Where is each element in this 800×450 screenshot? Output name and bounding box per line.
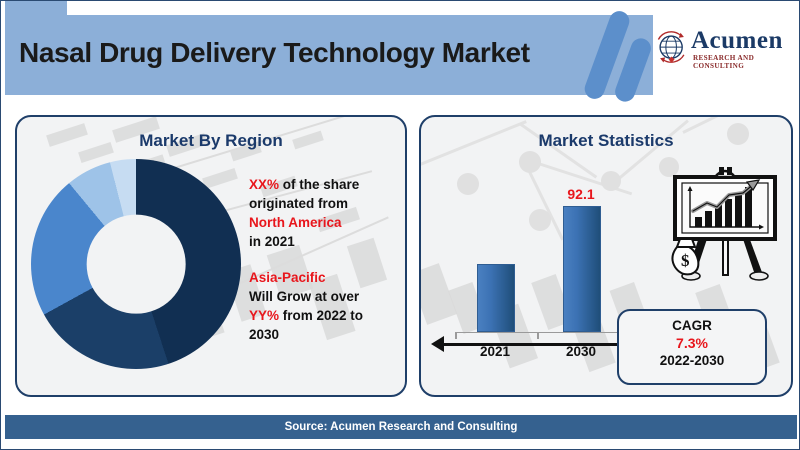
logo-wordmark: Acumen: [691, 28, 783, 53]
bar-2021: [477, 264, 515, 332]
footer-bar: Source: Acumen Research and Consulting: [5, 415, 797, 439]
logo-tagline: RESEARCH AND CONSULTING: [693, 54, 795, 70]
asia-growth-text: Will Grow at over: [249, 287, 399, 306]
market-by-region-panel: Market By Region XX% of the share origin…: [15, 115, 407, 397]
bar-label-2021: 2021: [467, 344, 523, 359]
footer-source-text: Source: Acumen Research and Consulting: [5, 415, 797, 439]
cagr-callout-box: CAGR 7.3% 2022-2030: [617, 309, 767, 385]
north-america-share-value: XX%: [249, 177, 279, 192]
cagr-period: 2022-2030: [619, 353, 765, 368]
cagr-arrow-line: [441, 343, 619, 346]
share-text-2: originated from: [249, 194, 399, 213]
share-year-label: in 2021: [249, 232, 399, 251]
bar-2030: [563, 206, 601, 332]
bar-label-2030: 2030: [553, 344, 609, 359]
svg-text:$: $: [681, 251, 690, 270]
share-text-1: of the share: [279, 177, 359, 192]
brand-logo: Acumen RESEARCH AND CONSULTING: [655, 27, 795, 73]
region-donut-chart: [31, 159, 241, 369]
asia-period-text: from 2022 to: [279, 308, 363, 323]
market-statistics-panel: Market Statistics 92.1 2021 2030: [419, 115, 793, 397]
header-notch: [5, 1, 67, 16]
chart-x-axis: [455, 332, 625, 334]
infographic-root: Nasal Drug Delivery Technology Market Ac…: [0, 0, 800, 450]
north-america-label: North America: [249, 213, 399, 232]
presentation-easel-icon: $: [669, 163, 781, 283]
market-statistics-bar-chart: 92.1 2021 2030: [449, 169, 629, 369]
bar-value-2030: 92.1: [551, 186, 611, 202]
right-panel-title: Market Statistics: [421, 131, 791, 151]
cagr-value: 7.3%: [619, 335, 765, 351]
page-title: Nasal Drug Delivery Technology Market: [19, 37, 619, 69]
region-stats-text: XX% of the share originated from North A…: [249, 175, 399, 344]
cagr-arrow-head-icon: [431, 336, 444, 352]
asia-cagr-value: YY%: [249, 308, 279, 323]
asia-period-end: 2030: [249, 325, 399, 344]
left-panel-title: Market By Region: [17, 131, 405, 151]
globe-icon: [655, 31, 689, 65]
cagr-label: CAGR: [619, 318, 765, 333]
donut-hole: [87, 215, 186, 314]
asia-pacific-label: Asia-Pacific: [249, 268, 399, 287]
